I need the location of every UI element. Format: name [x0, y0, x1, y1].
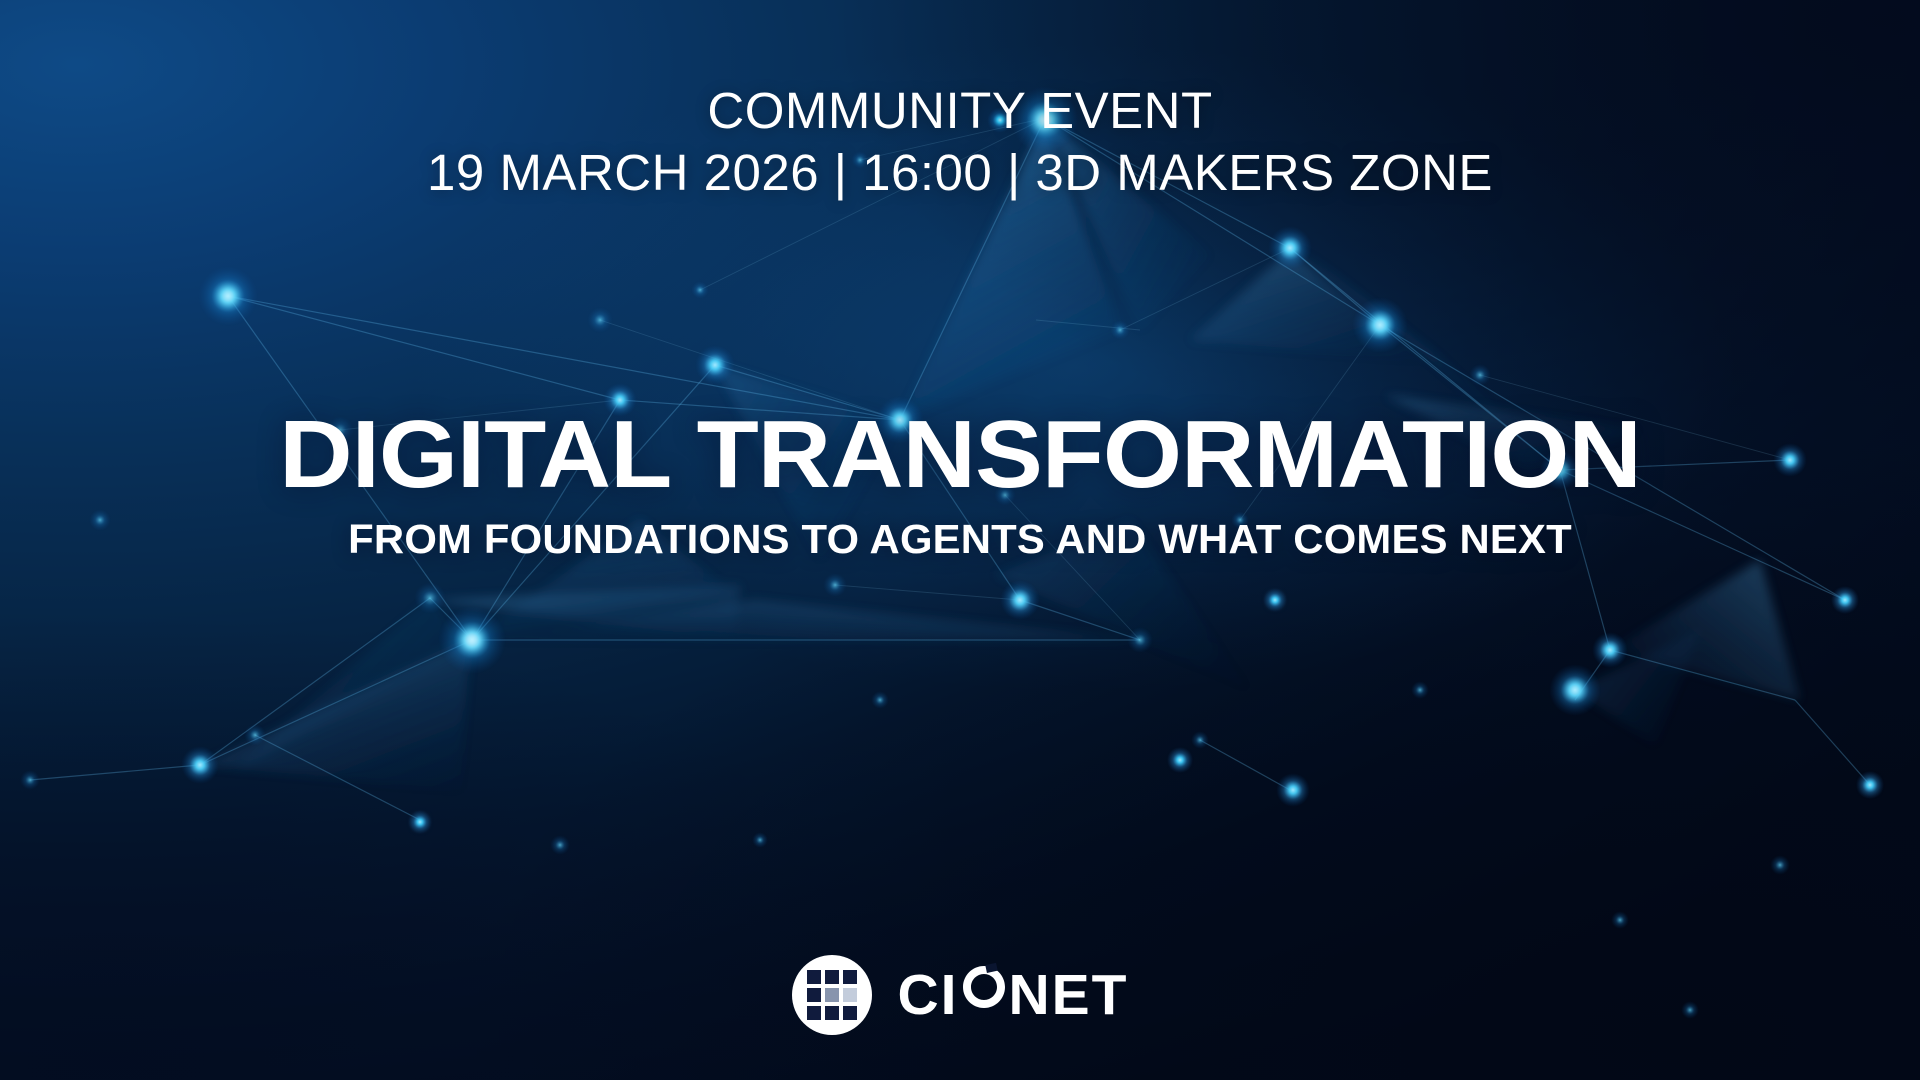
event-type-label: COMMUNITY EVENT — [0, 80, 1920, 142]
page-subtitle: FROM FOUNDATIONS TO AGENTS AND WHAT COME… — [0, 516, 1920, 562]
logo-cell-9 — [843, 1006, 857, 1020]
cionet-wordmark: CI NET — [898, 962, 1129, 1029]
logo-cell-3 — [843, 970, 857, 984]
logo-cell-1 — [807, 970, 821, 984]
wordmark-net: NET — [1009, 967, 1129, 1024]
logo-cell-5 — [825, 988, 839, 1002]
logo-cell-6 — [843, 988, 857, 1002]
logo-grid — [807, 970, 857, 1020]
logo-cell-4 — [807, 988, 821, 1002]
wordmark-ci: CI — [898, 967, 959, 1024]
page-title: DIGITAL TRANSFORMATION — [0, 406, 1920, 504]
brand-logo: CI NET — [0, 955, 1920, 1035]
logo-cell-8 — [825, 1006, 839, 1020]
event-banner: COMMUNITY EVENT 19 MARCH 2026 | 16:00 | … — [0, 0, 1920, 1080]
wordmark-o — [959, 962, 1009, 1029]
cionet-grid-mark-icon — [792, 955, 872, 1035]
event-datetime-venue-label: 19 MARCH 2026 | 16:00 | 3D MAKERS ZONE — [0, 142, 1920, 204]
logo-cell-2 — [825, 970, 839, 984]
headline-block: DIGITAL TRANSFORMATION FROM FOUNDATIONS … — [0, 406, 1920, 562]
logo-cell-7 — [807, 1006, 821, 1020]
event-meta-block: COMMUNITY EVENT 19 MARCH 2026 | 16:00 | … — [0, 80, 1920, 204]
